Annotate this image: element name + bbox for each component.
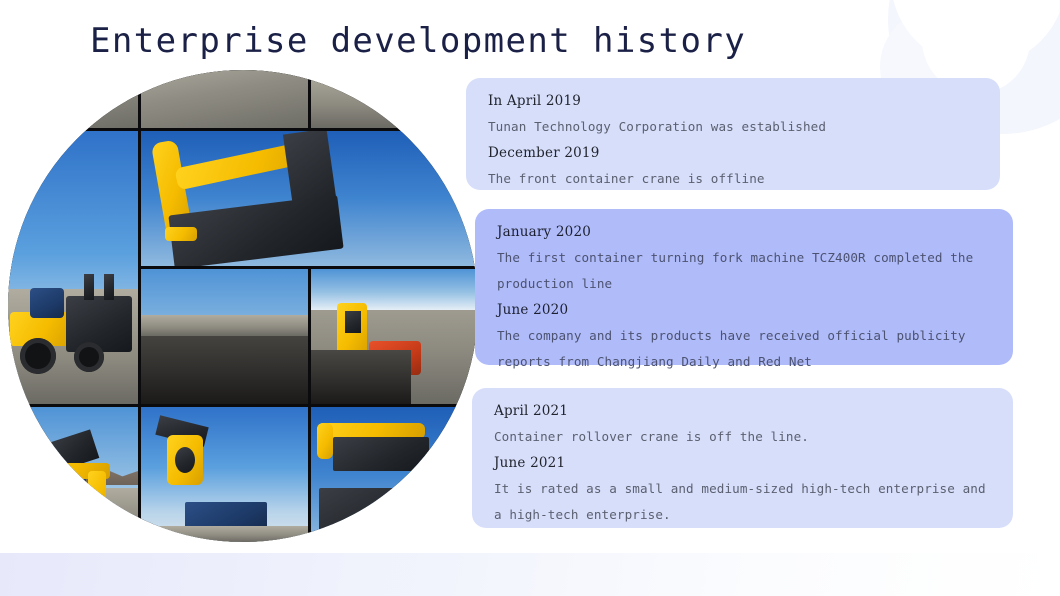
collage-tile-reach-stacker-yard [311,269,478,404]
timeline-text: a high-tech enterprise. [494,502,993,528]
timeline-card-2020[interactable]: January 2020 The first container turning… [475,209,1013,365]
circular-photo-collage [8,70,478,542]
collage-tile-spreader-over-container [311,407,478,542]
timeline-card-2021[interactable]: April 2021 Container rollover crane is o… [472,388,1013,528]
bottom-gradient-band [0,553,1060,596]
timeline-text: The company and its products have receiv… [497,323,993,349]
timeline-date: June 2021 [494,450,993,476]
collage-tile-turning-fork-machine [141,131,478,266]
timeline-date: December 2019 [488,140,980,166]
timeline-text: reports from Changjiang Daily and Red Ne… [497,349,993,375]
collage-tile-concrete-yard-2 [141,70,308,128]
slide-root: Enterprise development history [0,0,1060,596]
collage-tile-ground-top [311,70,478,128]
timeline-date: In April 2019 [488,88,980,114]
timeline-text: production line [497,271,993,297]
timeline-date: April 2021 [494,398,993,424]
collage-tile-crane-and-blue-container [141,407,308,542]
timeline-text: Tunan Technology Corporation was establi… [488,114,980,140]
timeline-text: It is rated as a small and medium-sized … [494,476,993,502]
collage-tile-crane-with-mountains [8,407,138,542]
timeline-text: The front container crane is offline [488,166,980,192]
page-title: Enterprise development history [90,18,746,64]
timeline-card-2019[interactable]: In April 2019 Tunan Technology Corporati… [466,78,1000,190]
collage-tile-concrete-yard [8,70,138,128]
collage-grid [8,70,478,542]
collage-tile-rail-yard [141,269,308,404]
collage-tile-yellow-loader [8,131,138,404]
timeline-text: Container rollover crane is off the line… [494,424,993,450]
timeline-date: June 2020 [497,297,993,323]
timeline-text: The first container turning fork machine… [497,245,993,271]
timeline-date: January 2020 [497,219,993,245]
